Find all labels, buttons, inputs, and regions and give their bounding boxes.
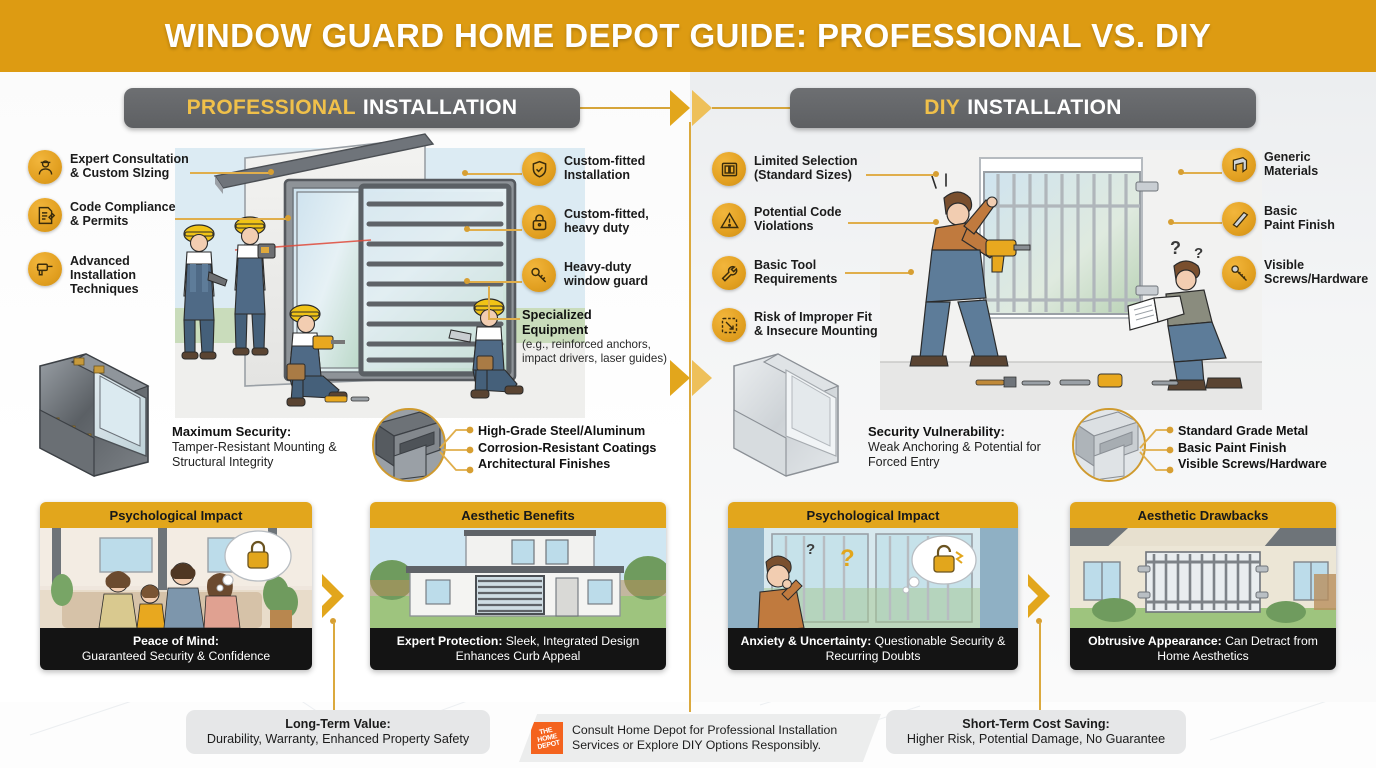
card-image-barred-window-house	[1070, 528, 1336, 628]
vertical-divider	[689, 122, 691, 712]
card-flow-arrow-diy-icon	[1024, 570, 1054, 622]
card-header: Aesthetic Benefits	[370, 502, 666, 528]
improper-fit-icon	[712, 308, 746, 342]
security-note-body: Weak Anchoring & Potential for Forced En…	[868, 440, 1041, 469]
banner-line-2: Services or Explore DIY Options Responsi…	[572, 738, 821, 752]
diy-installation-illustration: ? ?	[880, 150, 1262, 410]
key-icon	[522, 258, 556, 292]
card-image-modern-house-exterior	[370, 528, 666, 628]
home-depot-banner-text: Consult Home Depot for Professional Inst…	[572, 723, 837, 753]
card-caption: Peace of Mind: Guaranteed Security & Con…	[40, 628, 312, 670]
tab-professional-installation[interactable]: PROFESSIONAL INSTALLATION	[124, 88, 580, 128]
callout-heavy-duty-window-guard[interactable]: Heavy-duty window guard	[522, 258, 682, 292]
footer-pill-title: Short-Term Cost Saving:	[962, 717, 1109, 732]
footer-short-term-cost[interactable]: Short-Term Cost Saving: Higher Risk, Pot…	[886, 710, 1186, 754]
material-bullet: Basic Paint Finish	[1178, 440, 1327, 457]
callout-custom-fitted-heavy-duty[interactable]: Custom-fitted, heavy duty	[522, 205, 682, 239]
card-caption: Obtrusive Appearance: Can Detract from H…	[1070, 628, 1336, 670]
tab-diy-installation[interactable]: DIY INSTALLATION	[790, 88, 1256, 128]
callout-expert-consultation[interactable]: Expert Consultation & Custom SIzing	[28, 150, 213, 184]
leader-line	[1172, 222, 1222, 224]
footer-pill-body: Durability, Warranty, Enhanced Property …	[207, 732, 469, 747]
callout-basic-tool-requirements[interactable]: Basic Tool Requirements	[712, 256, 887, 290]
page-header: WINDOW GUARD HOME DEPOT GUIDE: PROFESSIO…	[0, 0, 1376, 72]
home-depot-banner[interactable]: THE HOME DEPOT Consult Home Depot for Pr…	[519, 714, 881, 762]
callout-text: Potential Code Violations	[754, 203, 842, 233]
card-caption-bold: Expert Protection:	[397, 634, 503, 648]
callout-text: Advanced Installation Techniques	[70, 252, 139, 296]
window-profile-cross-section-pro	[28, 352, 162, 478]
pill-rest-diy: INSTALLATION	[967, 96, 1121, 120]
chevron-divider-top-icon	[668, 88, 718, 128]
shield-check-icon	[522, 152, 556, 186]
callout-generic-materials[interactable]: Generic Materials	[1222, 148, 1374, 182]
material-leader-lines-pro	[438, 420, 474, 476]
callout-potential-code-violations[interactable]: Potential Code Violations	[712, 203, 887, 237]
card-caption-bold: Anxiety & Uncertainty:	[741, 634, 872, 648]
footer-pill-body: Higher Risk, Potential Damage, No Guaran…	[907, 732, 1165, 747]
card-caption: Anxiety & Uncertainty: Questionable Secu…	[728, 628, 1018, 670]
pill-rest-pro: INSTALLATION	[363, 96, 517, 120]
material-bullet: Corrosion-Resistant Coatings	[478, 440, 656, 457]
svg-text:?: ?	[1170, 238, 1181, 258]
material-sample-pro	[372, 408, 446, 482]
material-bullet: High-Grade Steel/Aluminum	[478, 423, 656, 440]
callout-custom-fitted-installation[interactable]: Custom-fitted Installation	[522, 152, 682, 186]
card-flow-arrow-pro-icon	[318, 570, 348, 622]
footer-connector-diy	[1039, 622, 1041, 712]
screw-icon	[1222, 256, 1256, 290]
svg-text:?: ?	[1194, 245, 1203, 262]
leader-dot	[933, 171, 939, 177]
callout-text: Expert Consultation & Custom SIzing	[70, 150, 189, 180]
window-box-icon	[712, 152, 746, 186]
callout-basic-paint-finish[interactable]: Basic Paint Finish	[1222, 202, 1374, 236]
pill-highlight-pro: PROFESSIONAL	[187, 96, 356, 120]
connector-line-pro	[578, 107, 678, 109]
callout-text: Basic Tool Requirements	[754, 256, 837, 286]
card-image-family-living-room	[40, 528, 312, 628]
card-aesthetic-drawbacks-diy[interactable]: Aesthetic Drawbacks	[1070, 502, 1336, 670]
padlock-icon	[522, 205, 556, 239]
card-caption-bold: Obtrusive Appearance:	[1088, 634, 1222, 648]
generic-material-icon	[1222, 148, 1256, 182]
callout-text: Limited Selection (Standard Sizes)	[754, 152, 858, 182]
callout-specialized-equipment[interactable]: Specialized Equipment (e.g., reinforced …	[522, 308, 667, 365]
leader-dot	[933, 219, 939, 225]
material-bullet: Standard Grade Metal	[1178, 423, 1327, 440]
wrench-icon	[712, 256, 746, 290]
card-header: Psychological Impact	[728, 502, 1018, 528]
leader-dot	[464, 278, 470, 284]
footer-connector-pro	[333, 622, 335, 712]
card-image-worried-man-window: ? ?	[728, 528, 1018, 628]
callout-text: Generic Materials	[1264, 148, 1318, 178]
callout-advanced-installation[interactable]: Advanced Installation Techniques	[28, 252, 213, 296]
card-caption-bold: Peace of Mind:	[133, 634, 219, 648]
leader-line	[468, 229, 522, 231]
infographic-page: WINDOW GUARD HOME DEPOT GUIDE: PROFESSIO…	[0, 0, 1376, 768]
page-title: WINDOW GUARD HOME DEPOT GUIDE: PROFESSIO…	[165, 17, 1212, 55]
callout-text: Heavy-duty window guard	[564, 258, 648, 288]
paint-strip-icon	[1222, 202, 1256, 236]
card-psychological-impact-diy[interactable]: Psychological Impact	[728, 502, 1018, 670]
leader-dot	[1178, 169, 1184, 175]
material-leader-lines-diy	[1138, 420, 1174, 476]
callout-visible-screws-hardware[interactable]: Visible Screws/Hardware	[1222, 256, 1374, 290]
callout-text: Custom-fitted Installation	[564, 152, 645, 182]
chevron-divider-mid-icon	[668, 358, 718, 398]
callout-risk-improper-fit[interactable]: Risk of Improper Fit & Insecure Mounting	[712, 308, 892, 342]
svg-text:?: ?	[806, 541, 815, 558]
card-header: Aesthetic Drawbacks	[1070, 502, 1336, 528]
window-profile-cross-section-diy	[722, 352, 852, 478]
home-depot-logo-icon: THE HOME DEPOT	[531, 722, 563, 754]
callout-title-line1: Specialized	[522, 307, 592, 322]
security-note-title: Security Vulnerability:	[868, 424, 1005, 439]
callout-title-line2: Equipment	[522, 322, 588, 337]
callout-subtext: (e.g., reinforced anchors, impact driver…	[522, 338, 667, 365]
callout-code-compliance[interactable]: Code Compliance & Permits	[28, 198, 213, 232]
svg-text:?: ?	[840, 545, 855, 572]
card-caption: Expert Protection: Sleek, Integrated Des…	[370, 628, 666, 670]
card-psychological-impact-pro[interactable]: Psychological Impact	[40, 502, 312, 670]
leader-dot	[268, 169, 274, 175]
material-sample-diy	[1072, 408, 1146, 482]
leader-dot	[1168, 219, 1174, 225]
leader-dot	[462, 170, 468, 176]
leader-dot	[285, 215, 291, 221]
footer-long-term-value[interactable]: Long-Term Value: Durability, Warranty, E…	[186, 710, 490, 754]
pill-highlight-diy: DIY	[924, 96, 960, 120]
callout-text: Risk of Improper Fit & Insecure Mounting	[754, 308, 878, 338]
security-note-title: Maximum Security:	[172, 424, 291, 439]
banner-line-1: Consult Home Depot for Professional Inst…	[572, 723, 837, 737]
leader-dot	[464, 226, 470, 232]
connector-line-diy	[712, 107, 792, 109]
leader-line	[468, 281, 522, 283]
card-header: Psychological Impact	[40, 502, 312, 528]
security-note-body: Tamper-Resistant Mounting & Structural I…	[172, 440, 337, 469]
leader-line	[1180, 172, 1222, 174]
leader-dot	[908, 269, 914, 275]
leader-line	[464, 173, 522, 175]
warning-triangle-icon	[712, 203, 746, 237]
consultant-icon	[28, 150, 62, 184]
permit-document-icon	[28, 198, 62, 232]
professional-security-note: Maximum Security: Tamper-Resistant Mount…	[172, 424, 372, 470]
diy-security-note: Security Vulnerability: Weak Anchoring &…	[868, 424, 1068, 470]
card-caption-rest: Guaranteed Security & Confidence	[82, 649, 270, 663]
professional-material-bullets: High-Grade Steel/Aluminum Corrosion-Resi…	[478, 423, 656, 473]
callout-limited-selection[interactable]: Limited Selection (Standard Sizes)	[712, 152, 887, 186]
footer-pill-title: Long-Term Value:	[285, 717, 390, 732]
callout-text: Code Compliance & Permits	[70, 198, 176, 228]
card-aesthetic-benefits-pro[interactable]: Aesthetic Benefits	[370, 502, 666, 670]
material-bullet: Architectural Finishes	[478, 456, 656, 473]
diy-material-bullets: Standard Grade Metal Basic Paint Finish …	[1178, 423, 1327, 473]
callout-text: Visible Screws/Hardware	[1264, 256, 1368, 286]
callout-text: Custom-fitted, heavy duty	[564, 205, 649, 235]
drill-icon	[28, 252, 62, 286]
callout-text: Basic Paint Finish	[1264, 202, 1335, 232]
leader-line-vertical	[488, 286, 490, 320]
leader-line	[490, 318, 520, 320]
material-bullet: Visible Screws/Hardware	[1178, 456, 1327, 473]
